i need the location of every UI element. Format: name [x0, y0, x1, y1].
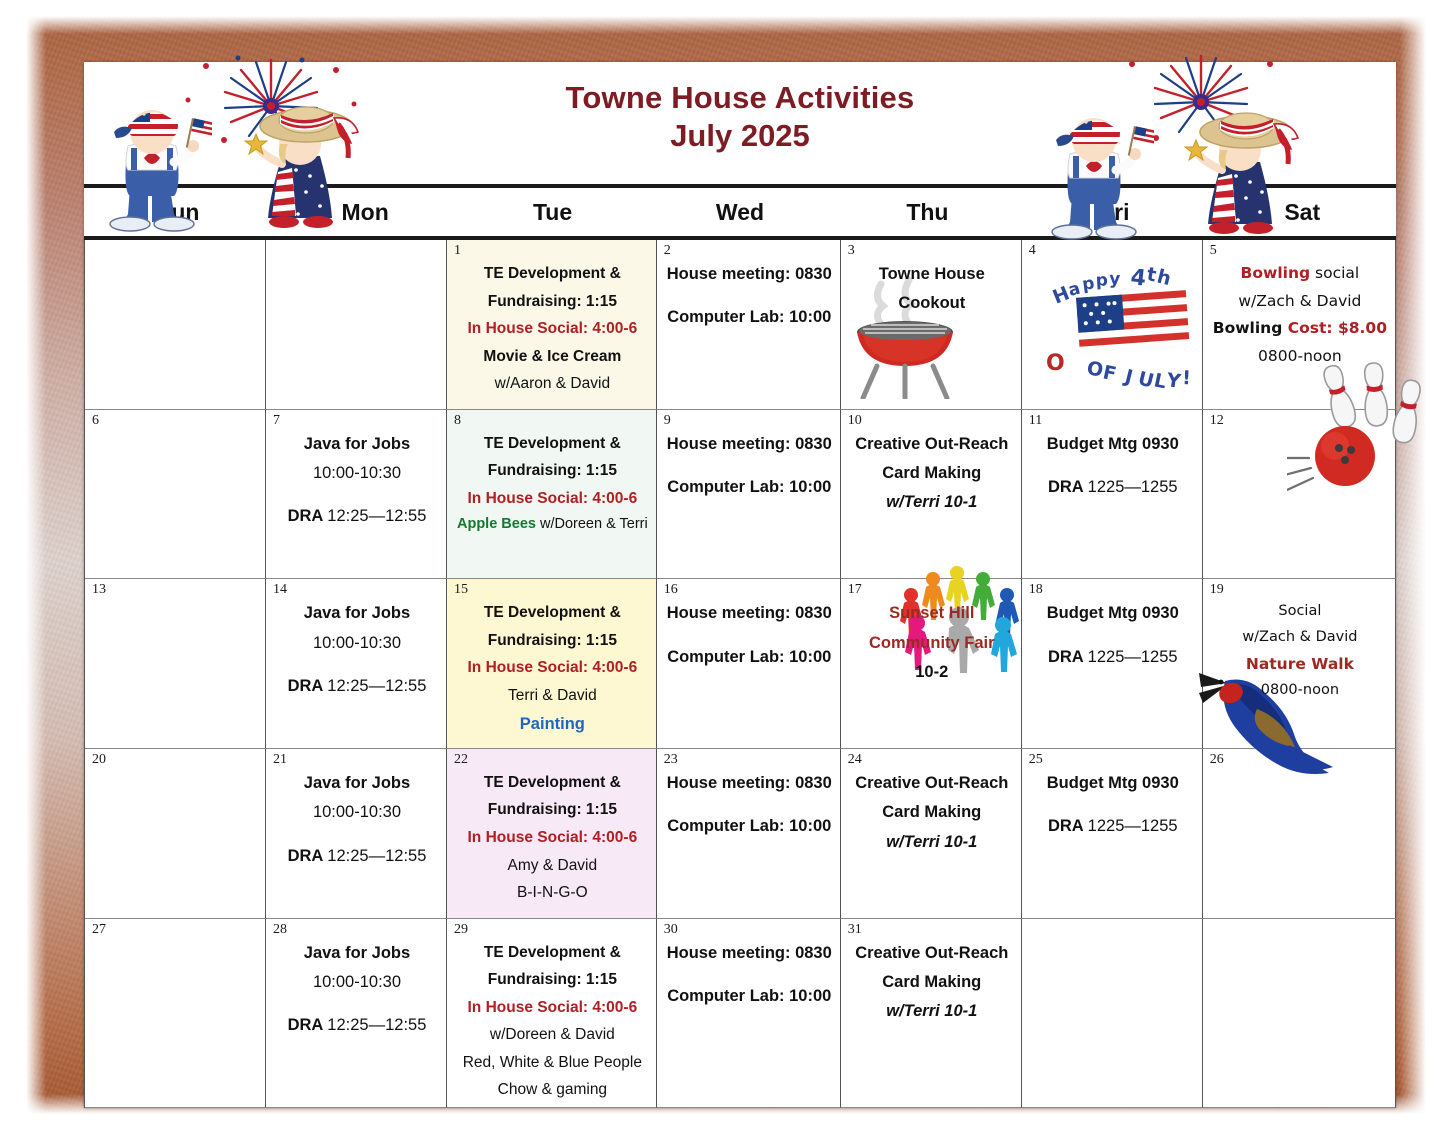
event-line: w/Terri 10-1: [851, 997, 1013, 1026]
day-number: 1: [454, 244, 651, 258]
svg-text:L: L: [1152, 369, 1168, 388]
event-line: TE Development &: [457, 769, 648, 797]
day-events: TE Development &Fundraising: 1:15In Hous…: [454, 939, 651, 1104]
weekday-tue: Tue: [459, 188, 646, 236]
svg-text:U: U: [1136, 368, 1156, 388]
day-cell-29[interactable]: 29TE Development &Fundraising: 1:15In Ho…: [447, 919, 657, 1108]
svg-text:t: t: [1145, 263, 1158, 286]
day-cell-empty-4-5[interactable]: [1022, 919, 1203, 1108]
event-spacer: [1032, 629, 1194, 643]
day-cell-4[interactable]: H a p p y 4 t h: [1022, 240, 1203, 410]
event-line: 0800-noon: [1213, 343, 1387, 371]
event-text-run: DRA: [1048, 648, 1088, 666]
day-cell-22[interactable]: 22TE Development &Fundraising: 1:15In Ho…: [447, 749, 657, 919]
svg-text:O: O: [1085, 357, 1105, 381]
day-number: 6: [92, 414, 260, 428]
event-line: Bowling Cost: $8.00: [1213, 315, 1387, 343]
event-line: TE Development &: [457, 599, 648, 627]
event-line: Red, White & Blue People: [457, 1049, 648, 1077]
weekday-sat: Sat: [1209, 188, 1396, 236]
event-line: Budget Mtg 0930: [1032, 430, 1194, 459]
event-text-run: DRA: [288, 677, 328, 695]
event-line: Terri & David: [457, 682, 648, 710]
event-line: w/Aaron & David: [457, 370, 648, 398]
event-line: Computer Lab: 10:00: [667, 643, 832, 672]
event-spacer: [667, 629, 832, 643]
svg-text:4: 4: [1129, 265, 1147, 291]
event-line: Nature Walk: [1213, 651, 1387, 679]
day-events: Socialw/Zach & DavidNature Walk0800-noon: [1210, 599, 1390, 704]
event-spacer: [276, 997, 438, 1011]
event-line: Budget Mtg 0930: [1032, 599, 1194, 628]
svg-text:J: J: [1121, 365, 1135, 388]
day-number: 24: [848, 753, 1016, 767]
event-line: w/Zach & David: [1213, 288, 1387, 316]
event-line: Creative Out-Reach: [851, 430, 1013, 459]
event-text-run: 1225—1255: [1088, 648, 1178, 666]
day-number: 27: [92, 923, 260, 937]
day-number: 4: [1029, 244, 1197, 258]
event-line: DRA 1225—1255: [1032, 643, 1194, 672]
svg-text:O: O: [1046, 351, 1065, 376]
svg-text:F: F: [1101, 361, 1118, 385]
event-line: In House Social: 4:00-6: [457, 315, 648, 343]
day-events: Java for Jobs10:00-10:30 DRA 12:25—12:55: [273, 599, 441, 701]
event-line: Community Fair: [851, 629, 1013, 658]
day-number: 21: [273, 753, 441, 767]
event-line: 10:00-10:30: [276, 629, 438, 658]
day-number: 10: [848, 414, 1016, 428]
event-line: Card Making: [851, 459, 1013, 488]
svg-text:H: H: [1049, 282, 1072, 308]
weekday-sun: Sun: [84, 188, 271, 236]
day-cell-14[interactable]: 14Java for Jobs10:00-10:30 DRA 12:25—12:…: [266, 579, 447, 749]
event-line: Computer Lab: 10:00: [667, 473, 832, 502]
day-cell-11[interactable]: 11Budget Mtg 0930 DRA 1225—1255: [1022, 410, 1203, 580]
day-cell-23[interactable]: 23House meeting: 0830 Computer Lab: 10:0…: [657, 749, 841, 919]
event-line: House meeting: 0830: [667, 769, 832, 798]
event-line: Card Making: [851, 798, 1013, 827]
event-text-run: DRA: [1048, 817, 1088, 835]
page-subtitle: July 2025: [84, 115, 1396, 157]
event-line: Java for Jobs: [276, 939, 438, 968]
day-events: TE Development &Fundraising: 1:15In Hous…: [454, 769, 651, 907]
day-events: Java for Jobs10:00-10:30 DRA 12:25—12:55: [273, 769, 441, 871]
fireworks-left-icon: [176, 44, 366, 164]
event-line: 10:00-10:30: [276, 798, 438, 827]
day-number: 13: [92, 583, 260, 597]
svg-text:y: y: [1109, 269, 1121, 289]
day-events: Budget Mtg 0930 DRA 1225—1255: [1029, 599, 1197, 672]
day-number: 12: [1210, 414, 1390, 428]
event-line: Card Making: [851, 968, 1013, 997]
event-text-run: DRA: [1048, 478, 1088, 496]
event-line: Computer Lab: 10:00: [667, 812, 832, 841]
event-line: w/Doreen & David: [457, 1021, 648, 1049]
day-cell-empty-0-1[interactable]: [266, 240, 447, 410]
day-events: House meeting: 0830 Computer Lab: 10:00: [664, 599, 835, 672]
calendar-sheet: Towne House Activities July 2025 Sun Mon…: [84, 62, 1396, 1108]
day-events: House meeting: 0830 Computer Lab: 10:00: [664, 769, 835, 842]
event-line: House meeting: 0830: [667, 599, 832, 628]
event-line: Painting: [457, 710, 648, 739]
day-number: 17: [848, 583, 1016, 597]
event-line: DRA 1225—1255: [1032, 473, 1194, 502]
day-number: 2: [664, 244, 835, 258]
event-spacer: [667, 968, 832, 982]
day-number: 11: [1029, 414, 1197, 428]
svg-text:p: p: [1081, 273, 1096, 294]
event-text-run: Bowling: [1213, 319, 1288, 337]
event-spacer: [1032, 798, 1194, 812]
day-number: 15: [454, 583, 651, 597]
event-line: 10-2: [851, 658, 1013, 687]
event-text-run: 1225—1255: [1088, 478, 1178, 496]
event-text-run: 12:25—12:55: [327, 847, 426, 865]
event-spacer: [1032, 459, 1194, 473]
day-events: House meeting: 0830 Computer Lab: 10:00: [664, 939, 835, 1012]
weekday-wed: Wed: [646, 188, 833, 236]
day-cell-27[interactable]: 27: [85, 919, 266, 1108]
event-line: Cookout: [851, 289, 1013, 318]
day-number: 5: [1210, 244, 1390, 258]
page-title: Towne House Activities: [84, 62, 1396, 115]
svg-text:p: p: [1095, 270, 1108, 291]
event-line: Computer Lab: 10:00: [667, 303, 832, 332]
day-cell-28[interactable]: 28Java for Jobs10:00-10:30 DRA 12:25—12:…: [266, 919, 447, 1108]
day-number: 16: [664, 583, 835, 597]
event-line: House meeting: 0830: [667, 939, 832, 968]
event-text-run: w/Doreen & Terri: [536, 516, 648, 532]
day-events: Java for Jobs10:00-10:30 DRA 12:25—12:55: [273, 430, 441, 532]
day-number: 3: [848, 244, 1016, 258]
weekday-fri: Fri: [1021, 188, 1208, 236]
day-cell-8[interactable]: 8TE Development &Fundraising: 1:15In Hou…: [447, 410, 657, 580]
day-cell-31[interactable]: 31Creative Out-ReachCard Makingw/Terri 1…: [841, 919, 1022, 1108]
event-spacer: [667, 459, 832, 473]
event-line: House meeting: 0830: [667, 260, 832, 289]
day-cell-30[interactable]: 30House meeting: 0830 Computer Lab: 10:0…: [657, 919, 841, 1108]
day-events: Towne HouseCookout: [848, 260, 1016, 319]
event-line: Sunset Hill: [851, 599, 1013, 628]
day-cell-25[interactable]: 25Budget Mtg 0930 DRA 1225—1255: [1022, 749, 1203, 919]
event-line: Chow & gaming: [457, 1076, 648, 1104]
day-events: Java for Jobs10:00-10:30 DRA 12:25—12:55: [273, 939, 441, 1041]
event-line: Fundraising: 1:15: [457, 288, 648, 316]
event-line: Social: [1213, 599, 1387, 625]
weekday-thu: Thu: [834, 188, 1021, 236]
day-events: Budget Mtg 0930 DRA 1225—1255: [1029, 769, 1197, 842]
event-line: Towne House: [851, 260, 1013, 289]
day-events: House meeting: 0830 Computer Lab: 10:00: [664, 430, 835, 503]
day-number: 18: [1029, 583, 1197, 597]
svg-text:!: !: [1182, 367, 1191, 388]
event-spacer: [667, 798, 832, 812]
weekday-header-row: Sun Mon Tue Wed Thu Fri Sat: [84, 184, 1396, 240]
day-cell-5[interactable]: 5Bowling socialw/Zach & DavidBowling Cos…: [1203, 240, 1396, 410]
day-cell-9[interactable]: 9House meeting: 0830 Computer Lab: 10:00: [657, 410, 841, 580]
day-cell-empty-4-6[interactable]: [1203, 919, 1396, 1108]
event-text-run: 12:25—12:55: [327, 1016, 426, 1034]
day-number: 29: [454, 923, 651, 937]
day-number: 25: [1029, 753, 1197, 767]
event-line: Creative Out-Reach: [851, 939, 1013, 968]
event-line: DRA 12:25—12:55: [276, 502, 438, 531]
day-cell-7[interactable]: 7Java for Jobs10:00-10:30 DRA 12:25—12:5…: [266, 410, 447, 580]
day-number: 9: [664, 414, 835, 428]
event-line: 10:00-10:30: [276, 459, 438, 488]
day-number: 28: [273, 923, 441, 937]
day-cell-10[interactable]: 10Creative Out-ReachCard Makingw/Terri 1…: [841, 410, 1022, 580]
event-text-run: DRA: [288, 847, 328, 865]
event-line: Apple Bees w/Doreen & Terri: [457, 512, 648, 538]
event-line: In House Social: 4:00-6: [457, 824, 648, 852]
day-cell-6[interactable]: 6: [85, 410, 266, 580]
event-text-run: DRA: [288, 507, 328, 525]
day-events: Budget Mtg 0930 DRA 1225—1255: [1029, 430, 1197, 503]
day-cell-21[interactable]: 21Java for Jobs10:00-10:30 DRA 12:25—12:…: [266, 749, 447, 919]
event-spacer: [276, 828, 438, 842]
day-cell-empty-0-0[interactable]: [85, 240, 266, 410]
day-cell-24[interactable]: 24Creative Out-ReachCard Makingw/Terri 1…: [841, 749, 1022, 919]
event-line: Creative Out-Reach: [851, 769, 1013, 798]
event-line: w/Zach & David: [1213, 625, 1387, 651]
event-line: Fundraising: 1:15: [457, 627, 648, 655]
event-line: Java for Jobs: [276, 599, 438, 628]
event-spacer: [276, 658, 438, 672]
event-line: Movie & Ice Cream: [457, 343, 648, 371]
event-line: DRA 12:25—12:55: [276, 842, 438, 871]
day-cell-12[interactable]: 12: [1203, 410, 1396, 580]
event-text-run: DRA: [288, 1016, 328, 1034]
day-number: 20: [92, 753, 260, 767]
event-line: Amy & David: [457, 852, 648, 880]
day-cell-26[interactable]: 26: [1203, 749, 1396, 919]
event-line: Fundraising: 1:15: [457, 457, 648, 485]
day-cell-2[interactable]: 2House meeting: 0830 Computer Lab: 10:00: [657, 240, 841, 410]
event-line: Computer Lab: 10:00: [667, 982, 832, 1011]
day-number: 7: [273, 414, 441, 428]
calendar-grid: 1TE Development &Fundraising: 1:15In Hou…: [84, 240, 1396, 1108]
event-line: 10:00-10:30: [276, 968, 438, 997]
event-text-run: 1225—1255: [1088, 817, 1178, 835]
weekday-mon: Mon: [271, 188, 458, 236]
day-number: 30: [664, 923, 835, 937]
event-line: Bowling social: [1213, 260, 1387, 288]
happy-4th-of-july-flag-icon: H a p p y 4 t h: [1044, 258, 1220, 388]
event-spacer: [667, 289, 832, 303]
event-text-run: 12:25—12:55: [327, 677, 426, 695]
event-text-run: 12:25—12:55: [327, 507, 426, 525]
day-number: 31: [848, 923, 1016, 937]
event-line: TE Development &: [457, 939, 648, 967]
event-line: In House Social: 4:00-6: [457, 994, 648, 1022]
day-number: 22: [454, 753, 651, 767]
day-events: Creative Out-ReachCard Makingw/Terri 10-…: [848, 430, 1016, 518]
day-cell-15[interactable]: 15TE Development &Fundraising: 1:15In Ho…: [447, 579, 657, 749]
event-line: In House Social: 4:00-6: [457, 485, 648, 513]
day-cell-13[interactable]: 13: [85, 579, 266, 749]
svg-text:Y: Y: [1164, 369, 1182, 388]
day-number: 19: [1210, 583, 1390, 597]
day-events: Sunset HillCommunity Fair10-2: [848, 599, 1016, 687]
day-cell-3[interactable]: 3Towne HouseCookout: [841, 240, 1022, 410]
event-text-run: social: [1310, 264, 1359, 282]
event-line: w/Terri 10-1: [851, 828, 1013, 857]
event-line: Budget Mtg 0930: [1032, 769, 1194, 798]
event-line: DRA 1225—1255: [1032, 812, 1194, 841]
calendar-header: Towne House Activities July 2025: [84, 62, 1396, 184]
day-number: 14: [273, 583, 441, 597]
day-cell-19[interactable]: 19Socialw/Zach & DavidNature Walk0800-no…: [1203, 579, 1396, 749]
event-text-run: Apple Bees: [457, 516, 536, 532]
day-cell-16[interactable]: 16House meeting: 0830 Computer Lab: 10:0…: [657, 579, 841, 749]
day-events: TE Development &Fundraising: 1:15In Hous…: [454, 260, 651, 398]
day-events: Bowling socialw/Zach & DavidBowling Cost…: [1210, 260, 1390, 370]
event-line: Java for Jobs: [276, 769, 438, 798]
day-events: House meeting: 0830 Computer Lab: 10:00: [664, 260, 835, 333]
event-spacer: [276, 488, 438, 502]
day-cell-18[interactable]: 18Budget Mtg 0930 DRA 1225—1255: [1022, 579, 1203, 749]
event-line: TE Development &: [457, 260, 648, 288]
event-line: Fundraising: 1:15: [457, 966, 648, 994]
day-number: 23: [664, 753, 835, 767]
day-cell-1[interactable]: 1TE Development &Fundraising: 1:15In Hou…: [447, 240, 657, 410]
day-events: TE Development &Fundraising: 1:15In Hous…: [454, 599, 651, 739]
day-events: Creative Out-ReachCard Makingw/Terri 10-…: [848, 769, 1016, 857]
day-number: 8: [454, 414, 651, 428]
event-text-run: Bowling: [1241, 264, 1311, 282]
day-cell-20[interactable]: 20: [85, 749, 266, 919]
event-line: House meeting: 0830: [667, 430, 832, 459]
event-line: 0800-noon: [1213, 678, 1387, 704]
svg-text:h: h: [1155, 266, 1173, 291]
event-line: Java for Jobs: [276, 430, 438, 459]
event-line: w/Terri 10-1: [851, 488, 1013, 517]
day-events: Creative Out-ReachCard Makingw/Terri 10-…: [848, 939, 1016, 1027]
day-cell-17[interactable]: 17Sunset HillCommunity Fair10-2: [841, 579, 1022, 749]
event-line: DRA 12:25—12:55: [276, 1011, 438, 1040]
svg-text:a: a: [1066, 279, 1082, 301]
event-line: B-I-N-G-O: [457, 879, 648, 907]
day-events: TE Development &Fundraising: 1:15In Hous…: [454, 430, 651, 539]
event-line: DRA 12:25—12:55: [276, 672, 438, 701]
event-line: In House Social: 4:00-6: [457, 654, 648, 682]
event-line: TE Development &: [457, 430, 648, 458]
day-number: 26: [1210, 753, 1390, 767]
event-text-run: Cost: $8.00: [1288, 319, 1387, 337]
event-line: Fundraising: 1:15: [457, 796, 648, 824]
